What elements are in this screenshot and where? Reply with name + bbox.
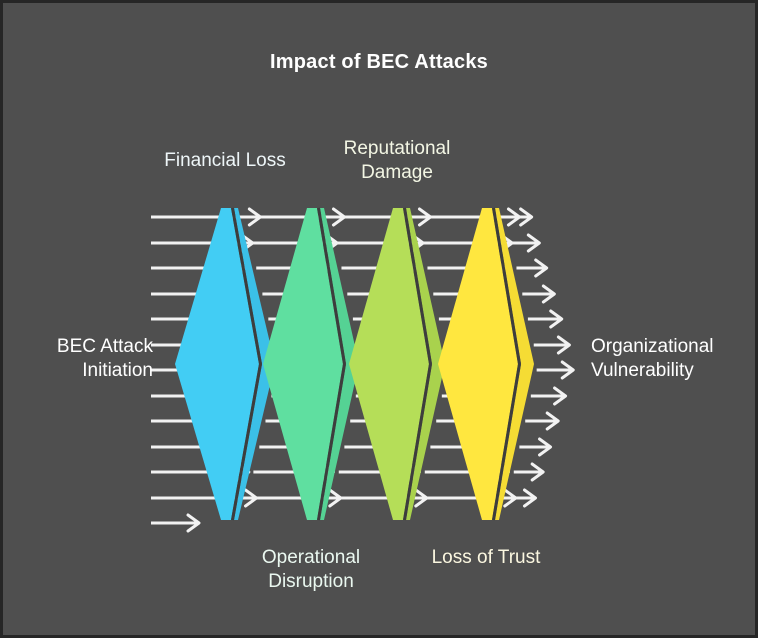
stage-label-operational-disruption: Operational Disruption [226,546,396,594]
label-organizational-vulnerability: Organizational Vulnerability [591,335,756,383]
label-bec-attack-initiation: BEC Attack Initiation [13,335,153,383]
stage-label-financial-loss: Financial Loss [140,149,310,173]
funnel-graphic [3,3,758,638]
diagram-canvas: Impact of BEC Attacks BEC Attack Initiat… [0,0,758,638]
stage-label-reputational-damage: Reputational Damage [312,137,482,185]
stage-label-loss-of-trust: Loss of Trust [401,546,571,570]
